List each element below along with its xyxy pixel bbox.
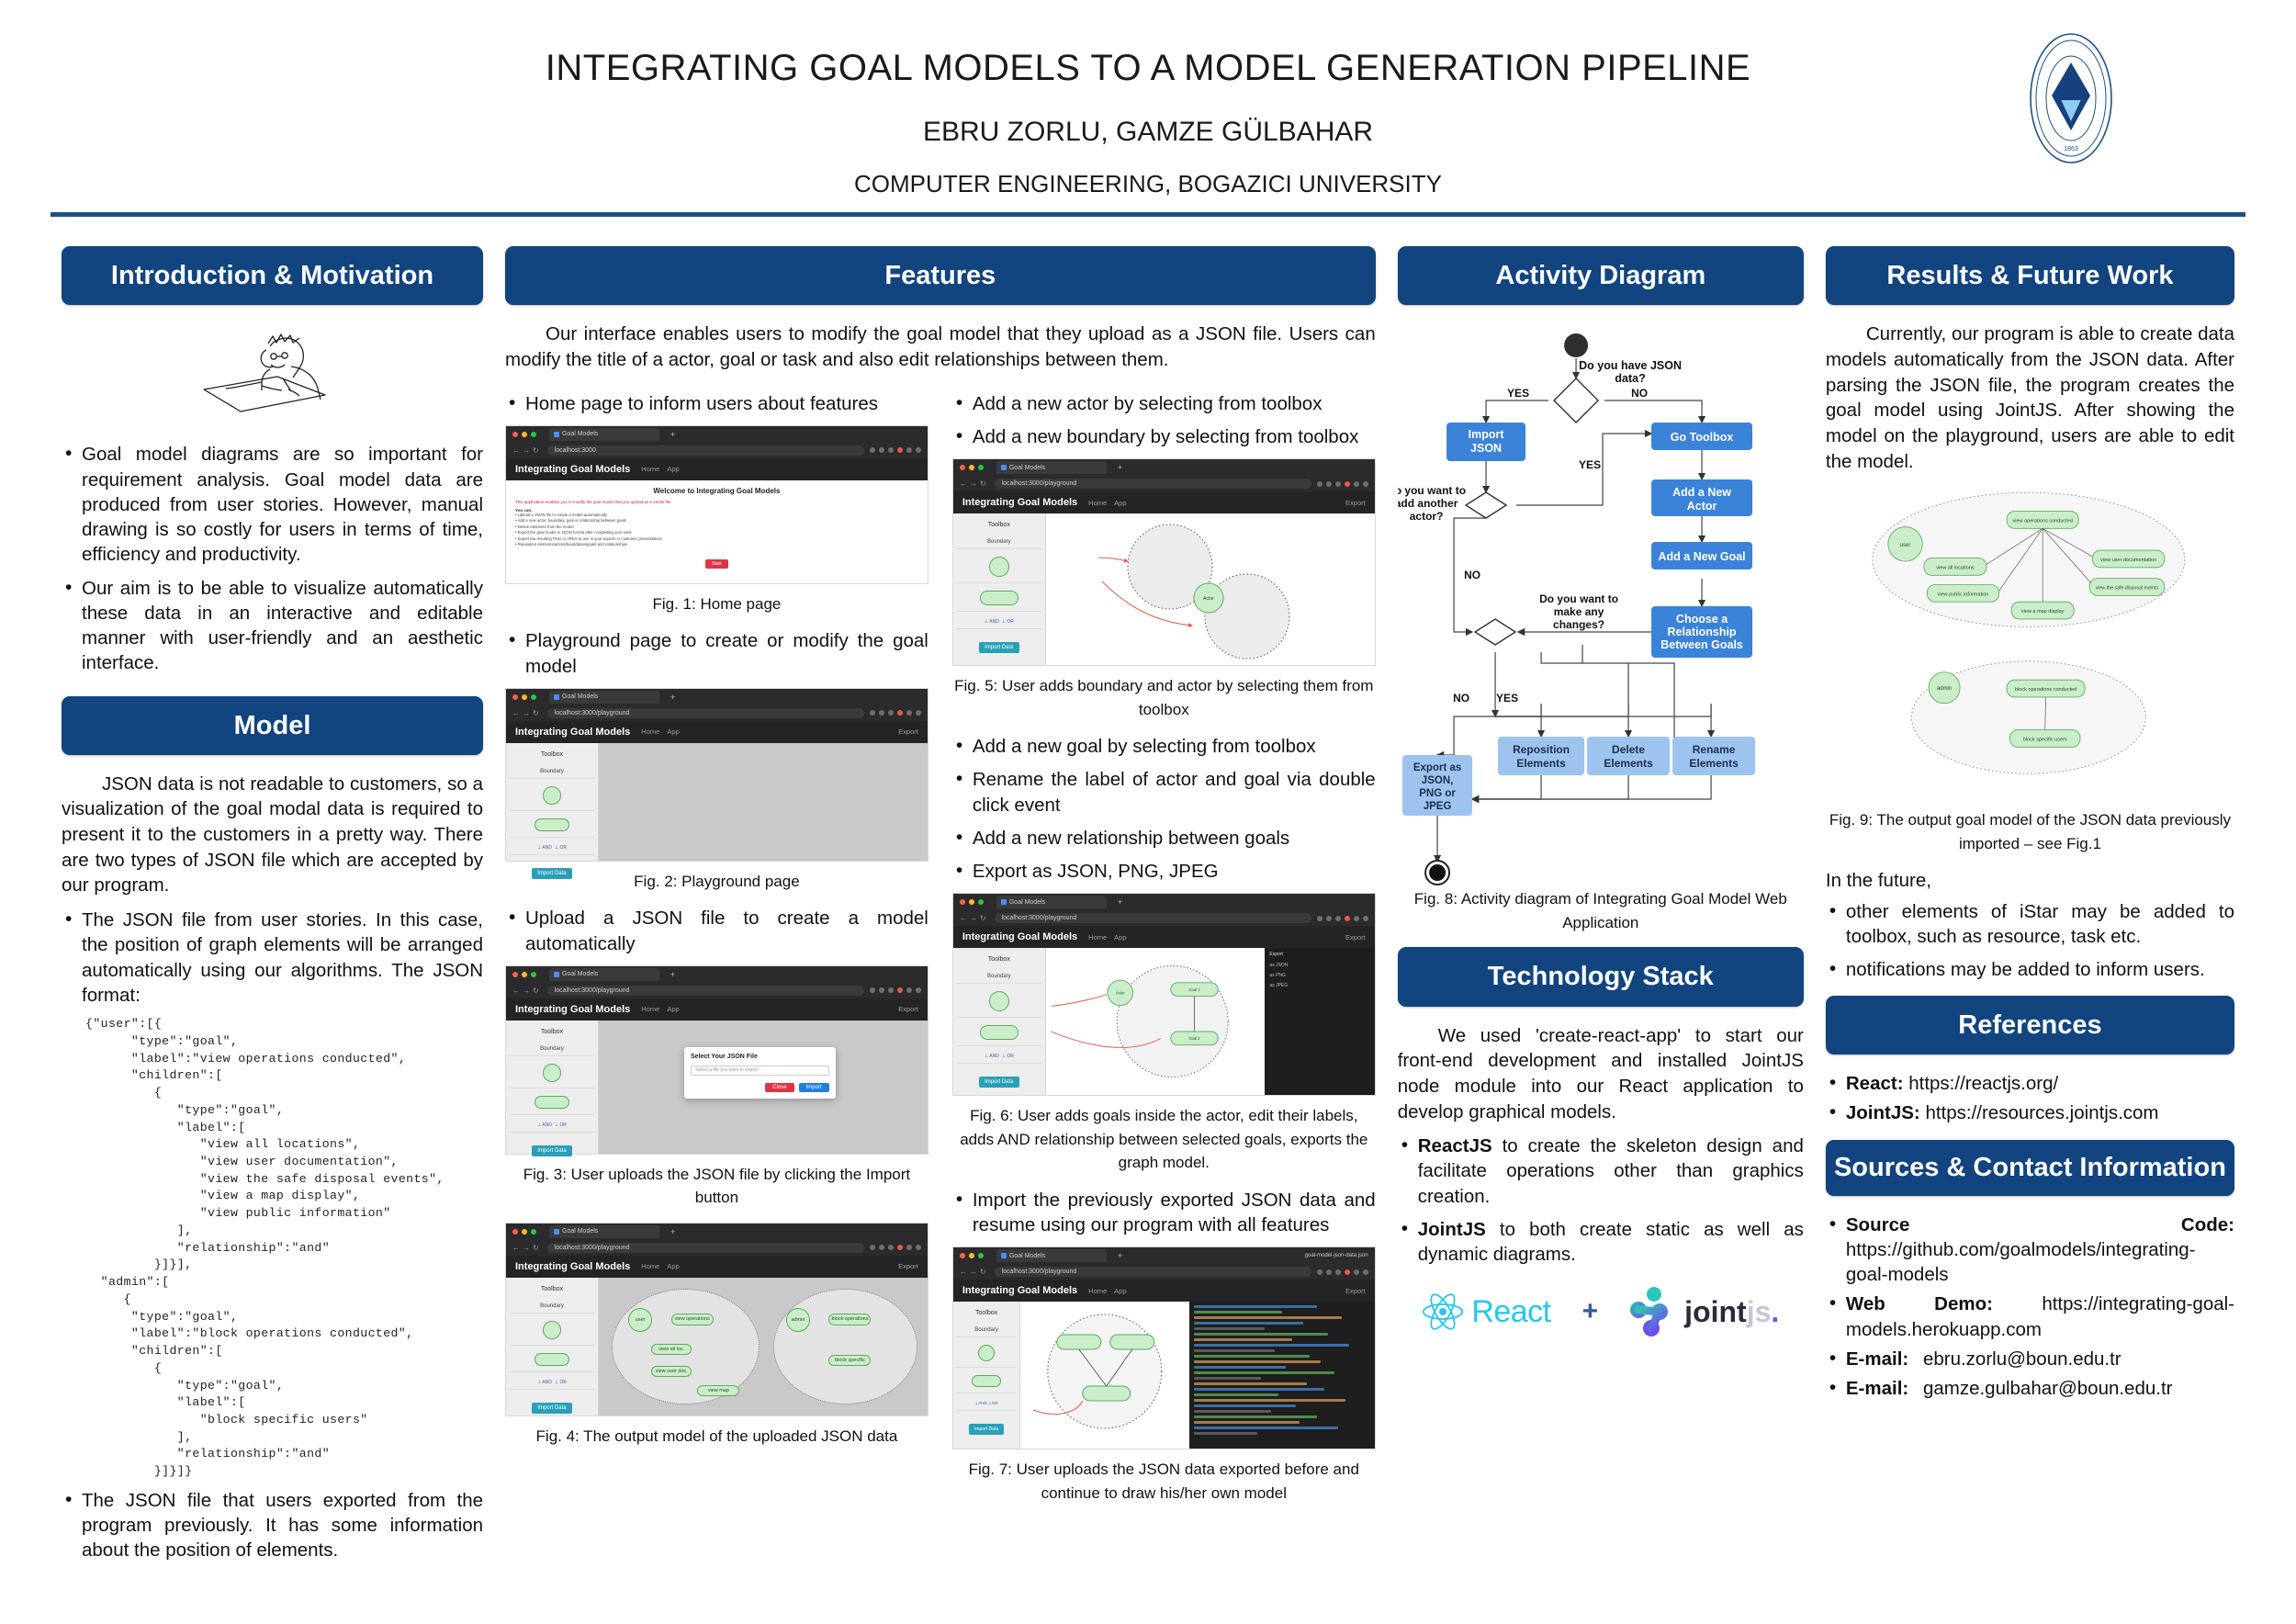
svg-text:Do you have JSON: Do you have JSON (1579, 359, 1682, 372)
toolbox-item-boundary[interactable]: Boundary (957, 970, 1041, 984)
close-icon[interactable] (960, 1253, 965, 1258)
list-item: Add a new boundary by selecting from too… (952, 424, 1376, 449)
import-data-button[interactable]: Import Data (532, 868, 571, 879)
svg-text:JSON,: JSON, (1422, 775, 1454, 786)
app-brand: Integrating Goal Models (515, 1261, 630, 1272)
nav-link-app[interactable]: App (1114, 933, 1126, 942)
url-input[interactable]: localhost:3000/playground (547, 986, 864, 996)
toolbox-item-actor[interactable] (510, 783, 594, 811)
minimize-icon[interactable] (522, 694, 527, 700)
authors: EBRU ZORLU, GAMZE GÜLBAHAR (0, 117, 2296, 148)
import-json-modal[interactable]: Select Your JSON File Select a file you … (684, 1047, 836, 1099)
svg-text:view a map display: view a map display (2021, 609, 2065, 615)
source-url[interactable]: https://github.com/goalmodels/integratin… (1846, 1239, 2196, 1285)
toolbox-item-boundary[interactable]: Boundary (510, 1300, 594, 1314)
toolbox-panel[interactable]: Toolbox Boundary ⊥ AND ⊥ (953, 513, 1046, 665)
toolbox-panel[interactable]: Toolbox Boundary ⊥AND ⊥OR (953, 1302, 1020, 1449)
svg-text:JSON: JSON (1470, 442, 1502, 455)
features-right-bullets-c: Import the previously exported JSON data… (952, 1188, 1376, 1238)
email-value-1[interactable]: ebru.zorlu@boun.edu.tr (1923, 1348, 2122, 1370)
new-tab-icon[interactable]: + (670, 693, 675, 702)
nav-arrows-icon[interactable]: ←→↻ (512, 987, 542, 995)
browser-tabbar: Goal Models + (953, 459, 1375, 476)
browser-tab[interactable]: Goal Models (996, 1249, 1107, 1262)
jointjs-mark-icon (1629, 1287, 1673, 1336)
list-item: Add a new actor by selecting from toolbo… (952, 391, 1376, 416)
export-dropdown[interactable]: Export (898, 727, 918, 736)
cancel-button[interactable]: Close (765, 1083, 793, 1092)
technology-logos: React + (1398, 1287, 1804, 1336)
logo-year: 1863 (2064, 146, 2078, 152)
playground-stage[interactable]: user view operations view all loc. view … (599, 1278, 928, 1415)
toolbox-item-actor[interactable] (956, 1341, 1018, 1368)
browser-tab[interactable]: Goal Models (549, 691, 659, 704)
extensions-icons[interactable] (1317, 1269, 1368, 1275)
browser-urlbar: ←→↻ localhost:3000 (506, 443, 928, 458)
svg-text:NO: NO (1464, 569, 1480, 581)
svg-text:block operations conducted: block operations conducted (2015, 687, 2077, 693)
app-brand: Integrating Goal Models (962, 931, 1077, 942)
university-logo: 1863 (2002, 29, 2140, 167)
column-left: Introduction & Motivation (51, 246, 494, 1572)
app-brand: Integrating Goal Models (962, 1285, 1077, 1296)
svg-text:NO: NO (1631, 387, 1648, 400)
maximize-icon[interactable] (531, 972, 536, 977)
joint-text: joint (1684, 1295, 1747, 1328)
browser-tab[interactable]: Goal Models (549, 1225, 659, 1238)
browser-mockup[interactable]: Goal Models + ←→↻ localhost:3000/playgro… (952, 458, 1376, 666)
favicon-icon (554, 432, 559, 437)
webdemo-lead: Web (1846, 1293, 1885, 1314)
toolbox-panel[interactable]: Toolbox Boundary ⊥ AND ⊥ (506, 1021, 599, 1154)
playground-canvas: Toolbox Boundary ⊥ AND ⊥ (506, 743, 928, 861)
new-tab-icon[interactable]: + (1118, 463, 1122, 472)
maximize-icon[interactable] (531, 694, 536, 700)
tab-title: Goal Models (562, 971, 598, 977)
browser-mockup[interactable]: Goal Models + ←→↻ localhost:3000 (505, 425, 929, 584)
import-data-button[interactable]: Import Data (979, 642, 1019, 653)
tab-title: Goal Models (562, 431, 598, 437)
new-tab-icon[interactable]: + (670, 970, 675, 979)
maximize-icon[interactable] (531, 1229, 536, 1235)
playground-canvas: Toolbox Boundary ⊥AND ⊥OR (953, 1302, 1375, 1449)
affiliation: COMPUTER ENGINEERING, BOGAZICI UNIVERSIT… (0, 170, 2296, 198)
figure-9-output-goal-model: user view operations conducted view all … (1826, 483, 2234, 800)
toolbox-item-actor[interactable] (510, 1317, 594, 1346)
nav-link-home[interactable]: Home (641, 1005, 659, 1013)
references-list: React: https://reactjs.org/ JointJS: htt… (1826, 1071, 2234, 1126)
decision-make-changes (1475, 619, 1515, 645)
svg-text:make any: make any (1553, 605, 1604, 618)
json-code-editor[interactable] (1189, 1302, 1375, 1449)
import-data-button[interactable]: Import Data (979, 1077, 1019, 1088)
new-tab-icon[interactable]: + (1118, 897, 1122, 907)
header-text-block: INTEGRATING GOAL MODELS TO A MODEL GENER… (0, 0, 2296, 198)
file-window-title: goal-model-json-data.json (1305, 1253, 1368, 1258)
browser-urlbar: ←→↻ localhost:3000/playground (506, 705, 928, 721)
playground-stage[interactable] (1020, 1302, 1189, 1449)
favicon-icon (554, 1229, 559, 1235)
toolbox-item-relations[interactable]: ⊥ AND ⊥ OR (957, 615, 1041, 629)
toolbox-item-relations[interactable]: ⊥AND ⊥OR (956, 1397, 1018, 1411)
svg-text:actor?: actor? (1409, 510, 1443, 523)
list-item: JointJS to both create static as well as… (1398, 1217, 1804, 1268)
list-item: Import the previously exported JSON data… (952, 1188, 1376, 1238)
svg-text:view the safe disposal events: view the safe disposal events (2096, 586, 2159, 592)
favicon-icon (554, 694, 559, 700)
browser-tab[interactable]: Goal Models (549, 968, 659, 981)
browser-urlbar: ←→↻ localhost:3000/playground (953, 476, 1375, 491)
section-header-activity-diagram: Activity Diagram (1398, 246, 1804, 305)
url-input[interactable]: localhost:3000/playground (995, 913, 1311, 923)
features-subcolumn-left: Home page to inform users about features (505, 386, 929, 1518)
email-lead-1: E-mail: (1846, 1348, 1908, 1370)
maximize-icon[interactable] (978, 1253, 984, 1258)
webdemo-lead2: Demo: (1934, 1293, 1993, 1314)
playground-canvas: Toolbox Boundary ⊥ AND ⊥ (953, 513, 1375, 665)
nav-arrows-icon[interactable]: ←→↻ (512, 446, 542, 455)
svg-text:Add a New Goal: Add a New Goal (1658, 550, 1745, 563)
maximize-icon[interactable] (531, 432, 536, 437)
home-cta-button[interactable]: Start (705, 559, 728, 569)
toolbox-label: Toolbox (541, 1025, 563, 1039)
minimize-icon[interactable] (969, 1253, 974, 1258)
figure-4-output-model: Goal Models + ←→↻ localhost:3000/playgro… (505, 1223, 929, 1416)
extensions-icons[interactable] (870, 1245, 921, 1250)
list-item: Rename the label of actor and goal via d… (952, 767, 1376, 818)
svg-text:Actor: Actor (1116, 991, 1125, 996)
svg-text:Actor: Actor (1203, 596, 1214, 602)
svg-text:Do you want to: Do you want to (1398, 484, 1466, 497)
results-intro-paragraph: Currently, our program is able to create… (1826, 321, 2234, 474)
model-bullet-2-list: The JSON file that users exported from t… (62, 1488, 483, 1563)
toolbox-item-goal[interactable] (956, 1371, 1018, 1393)
favicon-icon (554, 972, 559, 977)
list-item: other elements of iStar may be added to … (1826, 899, 2234, 950)
features-left-bullet-3: Upload a JSON file to create a model aut… (505, 906, 929, 956)
app-nav-links[interactable]: Home App (1088, 933, 1126, 942)
toolbox-label: Toolbox (988, 953, 1010, 966)
new-tab-icon[interactable]: + (670, 430, 675, 439)
toolbox-panel[interactable]: Toolbox Boundary ⊥ AND ⊥ (506, 1278, 599, 1415)
app-navbar: Integrating Goal Models Home App Export (953, 491, 1375, 513)
toolbox-item-goal[interactable] (957, 587, 1041, 612)
extensions-icons[interactable] (870, 447, 921, 453)
playground-stage[interactable]: Select Your JSON File Select a file you … (599, 1021, 928, 1154)
future-bullets: other elements of iStar may be added to … (1826, 899, 2234, 983)
file-input[interactable]: Select a file you want to import (691, 1066, 829, 1076)
svg-text:YES: YES (1579, 458, 1601, 471)
playground-stage[interactable] (599, 743, 928, 861)
toolbox-label: Toolbox (541, 1282, 563, 1296)
toolbox-item-relations[interactable]: ⊥ AND ⊥ OR (510, 1119, 594, 1133)
maximize-icon[interactable] (978, 465, 984, 470)
close-icon[interactable] (960, 899, 965, 905)
react-wordmark: React (1471, 1294, 1550, 1330)
tab-title: Goal Models (562, 694, 598, 700)
export-dropdown[interactable]: Export (898, 1262, 918, 1270)
browser-mockup[interactable]: Goal Models + ←→↻ localhost:3000/playgro… (505, 688, 929, 862)
email-value-2[interactable]: gamze.gulbahar@boun.edu.tr (1923, 1378, 2173, 1399)
url-input[interactable]: localhost:3000 (547, 445, 864, 456)
nav-arrows-icon[interactable]: ←→↻ (960, 914, 989, 922)
activity-diagram: Do you have JSON data? YES NO Import JSO… (1398, 321, 1804, 909)
export-dropdown[interactable]: Export (1345, 933, 1366, 942)
poster-root: INTEGRATING GOAL MODELS TO A MODEL GENER… (0, 0, 2296, 1624)
svg-text:user: user (1900, 543, 1911, 548)
svg-text:Actor: Actor (1686, 500, 1716, 513)
column-features: Features Our interface enables users to … (494, 246, 1387, 1572)
section-header-references: References (1826, 996, 2234, 1054)
import-data-button[interactable]: Import Data (969, 1424, 1004, 1435)
tab-title: Goal Models (1009, 465, 1045, 471)
svg-text:Rename: Rename (1692, 743, 1735, 756)
toolbox-item-relations[interactable]: ⊥ AND ⊥ OR (957, 1050, 1041, 1064)
app-nav-links[interactable]: Home App (641, 465, 679, 473)
browser-tabbar: Goal Models + (506, 426, 928, 443)
toolbox-item-goal[interactable] (957, 1021, 1041, 1046)
svg-text:add another: add another (1398, 497, 1458, 510)
new-tab-icon[interactable]: + (670, 1227, 675, 1236)
list-item: E-mail: ebru.zorlu@boun.edu.tr (1826, 1347, 2234, 1371)
figure-2-playground-page: Goal Models + ←→↻ localhost:3000/playgro… (505, 688, 929, 862)
header-divider (51, 212, 2245, 217)
svg-text:Do you want to: Do you want to (1539, 592, 1618, 605)
nav-link-app[interactable]: App (667, 1262, 679, 1270)
extensions-icons[interactable] (870, 987, 921, 993)
features-left-bullet-1: Home page to inform users about features (505, 391, 929, 416)
maximize-icon[interactable] (978, 899, 984, 905)
nav-link-home[interactable]: Home (1088, 499, 1107, 507)
logo-dot: . (1771, 1295, 1779, 1328)
email-lead-2: E-mail: (1846, 1378, 1908, 1399)
toolbox-item-boundary[interactable]: Boundary (957, 536, 1041, 549)
export-panel: Export as JSONas PNGas JPEG (1265, 948, 1374, 1095)
svg-text:block specific users: block specific users (2023, 738, 2067, 743)
browser-mockup[interactable]: Goal Models + ←→↻ localhost:3000/playgro… (505, 965, 929, 1155)
close-icon[interactable] (512, 694, 518, 700)
browser-urlbar: ←→↻ localhost:3000/playground (953, 910, 1375, 926)
browser-tabbar: Goal Models + (953, 894, 1375, 910)
svg-text:data?: data? (1615, 372, 1645, 385)
svg-text:Elements: Elements (1604, 757, 1653, 770)
browser-urlbar: ←→↻ localhost:3000/playground (953, 1264, 1375, 1280)
nav-link-app[interactable]: App (1114, 499, 1126, 507)
svg-text:admin: admin (1937, 687, 1952, 693)
favicon-icon (1001, 465, 1007, 470)
list-item: The JSON file that users exported from t… (62, 1488, 483, 1563)
app-nav-links[interactable]: Home App (1088, 1287, 1126, 1295)
minimize-icon[interactable] (969, 899, 974, 905)
browser-mockup[interactable]: Goal Models + goal-model-json-data.json … (952, 1246, 1376, 1449)
url-input[interactable]: localhost:3000/playground (547, 708, 864, 718)
export-dropdown[interactable]: Export (1345, 499, 1366, 507)
app-navbar: Integrating Goal Models Home App Export (953, 1280, 1375, 1302)
tab-title: Goal Models (1009, 1253, 1045, 1259)
app-brand: Integrating Goal Models (515, 464, 630, 475)
toolbox-label: Toolbox (975, 1306, 997, 1320)
toolbox-panel[interactable]: Toolbox Boundary ⊥ AND ⊥ (953, 948, 1046, 1095)
browser-urlbar: ←→↻ localhost:3000/playground (506, 1240, 928, 1256)
toolbox-item-relations[interactable]: ⊥ AND ⊥ OR (510, 841, 594, 855)
react-atom-icon (1422, 1292, 1464, 1331)
app-nav-links[interactable]: Home App (1088, 499, 1126, 507)
list-item: Goal model diagrams are so important for… (62, 442, 483, 567)
browser-tab[interactable]: Goal Models (549, 428, 659, 441)
svg-text:YES: YES (1496, 692, 1518, 705)
extensions-icons[interactable] (1317, 916, 1368, 921)
app-navbar: Integrating Goal Models Home App Export (953, 926, 1375, 948)
app-brand: Integrating Goal Models (962, 497, 1077, 508)
source-lead: Source (1846, 1212, 1910, 1237)
js-text: js (1747, 1295, 1772, 1328)
list-item: Add a new relationship between goals (952, 826, 1376, 851)
minimize-icon[interactable] (522, 432, 527, 437)
ref-lead-jointjs: JointJS: (1846, 1102, 1920, 1123)
extensions-icons[interactable] (870, 710, 921, 716)
svg-text:YES: YES (1507, 387, 1529, 400)
minimize-icon[interactable] (522, 1229, 527, 1235)
nav-arrows-icon[interactable]: ←→↻ (960, 1268, 989, 1276)
close-icon[interactable] (960, 465, 965, 470)
list-item: JointJS: https://resources.jointjs.com (1826, 1100, 2234, 1125)
nav-arrows-icon[interactable]: ←→↻ (960, 479, 989, 488)
section-header-introduction: Introduction & Motivation (62, 246, 483, 305)
svg-text:Between Goals: Between Goals (1660, 638, 1743, 651)
introduction-bullets: Goal model diagrams are so important for… (62, 442, 483, 675)
svg-text:Delete: Delete (1612, 743, 1645, 756)
list-item: The JSON file from user stories. In this… (62, 908, 483, 1008)
figure-9-caption: Fig. 9: The output goal model of the JSO… (1826, 808, 2234, 855)
ref-url-react: https://reactjs.org/ (1904, 1073, 2059, 1094)
nav-link-home[interactable]: Home (641, 727, 659, 736)
toolbox-panel[interactable]: Toolbox Boundary ⊥ AND ⊥ (506, 743, 599, 861)
home-heading: Welcome to Integrating Goal Models (515, 487, 918, 495)
toolbox-item-boundary[interactable]: Boundary (510, 765, 594, 779)
close-icon[interactable] (512, 972, 518, 977)
svg-text:Elements: Elements (1516, 757, 1566, 770)
app-nav-links[interactable]: Home App (641, 1005, 679, 1013)
toolbox-label: Toolbox (988, 518, 1010, 532)
section-header-technology-stack: Technology Stack (1398, 947, 1804, 1006)
toolbox-label: Toolbox (541, 748, 563, 761)
plus-sign: + (1582, 1296, 1599, 1327)
svg-text:NO: NO (1453, 692, 1469, 705)
modal-buttons: Close Import (691, 1083, 829, 1092)
model-bullet-1-list: The JSON file from user stories. In this… (62, 908, 483, 1008)
list-item: ReactJS to create the skeleton design an… (1398, 1133, 1804, 1209)
playground-stage[interactable]: Actor Goal 1 Goal 2 (1046, 948, 1266, 1095)
list-item: Playground page to create or modify the … (505, 628, 929, 679)
nav-link-app[interactable]: App (667, 1005, 679, 1013)
modal-title: Select Your JSON File (691, 1054, 829, 1060)
export-dropdown[interactable]: Export (898, 1005, 918, 1013)
nav-link-app[interactable]: App (1114, 1287, 1126, 1295)
toolbox-item-goal[interactable] (510, 1349, 594, 1372)
browser-mockup[interactable]: Goal Models + ←→↻ localhost:3000/playgro… (505, 1223, 929, 1416)
toolbox-item-actor[interactable] (957, 553, 1041, 583)
browser-tabbar: Goal Models + (506, 1224, 928, 1240)
toolbox-item-goal[interactable] (510, 1092, 594, 1115)
url-input[interactable]: localhost:3000/playground (995, 479, 1311, 489)
nav-link-home[interactable]: Home (1088, 933, 1107, 942)
svg-text:Goal 2: Goal 2 (1188, 1037, 1200, 1042)
url-input[interactable]: localhost:3000/playground (547, 1243, 864, 1253)
submit-button[interactable]: Import (799, 1083, 829, 1092)
svg-text:view public information: view public information (1937, 592, 1988, 598)
toolbox-item-goal[interactable] (510, 815, 594, 838)
new-tab-icon[interactable]: + (1118, 1251, 1122, 1260)
nav-arrows-icon[interactable]: ←→↻ (512, 1244, 542, 1252)
browser-mockup[interactable]: Goal Models + ←→↻ localhost:3000/playgro… (952, 893, 1376, 1096)
toolbox-item-boundary[interactable]: Boundary (510, 1043, 594, 1056)
webdemo-url[interactable]: https://integrating-goal-models.herokuap… (1846, 1293, 2234, 1339)
toolbox-item-actor[interactable] (510, 1060, 594, 1088)
export-dropdown[interactable]: Export (1345, 1287, 1366, 1295)
playground-canvas: Toolbox Boundary ⊥ AND ⊥ (506, 1021, 928, 1154)
import-data-button[interactable]: Import Data (532, 1145, 571, 1156)
browser-tabbar: Goal Models + (506, 689, 928, 705)
minimize-icon[interactable] (522, 972, 527, 977)
app-nav-links[interactable]: Home App (641, 1262, 679, 1270)
svg-text:view operations conducted: view operations conducted (2012, 519, 2072, 524)
nav-link-home[interactable]: Home (641, 1262, 659, 1270)
nav-link-app[interactable]: App (667, 465, 679, 473)
json-format-code: {"user":[{ "type":"goal", "label":"view … (85, 1016, 483, 1481)
nav-link-home[interactable]: Home (641, 465, 659, 473)
features-right-bullets-b: Add a new goal by selecting from toolbox… (952, 734, 1376, 884)
playground-stage[interactable]: Actor (1046, 513, 1375, 665)
column-activity: Activity Diagram (1387, 246, 1815, 1572)
toolbox-item-boundary[interactable]: Boundary (956, 1324, 1018, 1337)
toolbox-item-relations[interactable]: ⊥ AND ⊥ OR (510, 1376, 594, 1390)
import-data-button[interactable]: Import Data (532, 1403, 571, 1414)
browser-tab[interactable]: Goal Models (996, 896, 1107, 908)
close-icon[interactable] (512, 432, 518, 437)
app-nav-links[interactable]: Home App (641, 727, 679, 736)
nav-arrows-icon[interactable]: ←→↻ (512, 709, 542, 717)
decision-add-another-actor (1466, 492, 1506, 518)
sources-list: Source Code: https://github.com/goalmode… (1826, 1212, 2234, 1402)
minimize-icon[interactable] (969, 465, 974, 470)
tech-intro-paragraph: We used 'create-react-app' to start our … (1398, 1023, 1804, 1125)
features-left-bullet-2: Playground page to create or modify the … (505, 628, 929, 679)
nav-link-app[interactable]: App (667, 727, 679, 736)
features-two-column: Home page to inform users about features (505, 386, 1376, 1518)
toolbox-item-actor[interactable] (957, 987, 1041, 1018)
section-header-features: Features (505, 246, 1376, 305)
figure-7-caption: Fig. 7: User uploads the JSON data expor… (952, 1458, 1376, 1505)
list-item: E-mail: gamze.gulbahar@boun.edu.tr (1826, 1376, 2234, 1401)
browser-tab[interactable]: Goal Models (996, 461, 1107, 474)
app-navbar: Integrating Goal Models Home App Export (506, 1256, 928, 1278)
nav-link-home[interactable]: Home (1088, 1287, 1107, 1295)
source-lead2: Code: (2181, 1212, 2234, 1237)
close-icon[interactable] (512, 1229, 518, 1235)
home-content: Welcome to Integrating Goal Models This … (506, 480, 928, 583)
extensions-icons[interactable] (1317, 481, 1368, 487)
app-brand: Integrating Goal Models (515, 727, 630, 738)
svg-text:JPEG: JPEG (1423, 801, 1451, 812)
tech-lead-reactjs: ReactJS (1418, 1135, 1492, 1156)
favicon-icon (1001, 899, 1007, 905)
tech-lead-jointjs: JointJS (1418, 1219, 1486, 1240)
section-header-results: Results & Future Work (1826, 246, 2234, 305)
url-input[interactable]: localhost:3000/playground (995, 1267, 1311, 1277)
figure-6-caption: Fig. 6: User adds goals inside the actor… (952, 1104, 1376, 1175)
figure-3-caption: Fig. 3: User uploads the JSON file by cl… (505, 1163, 929, 1210)
browser-tabbar: Goal Models + (506, 966, 928, 983)
